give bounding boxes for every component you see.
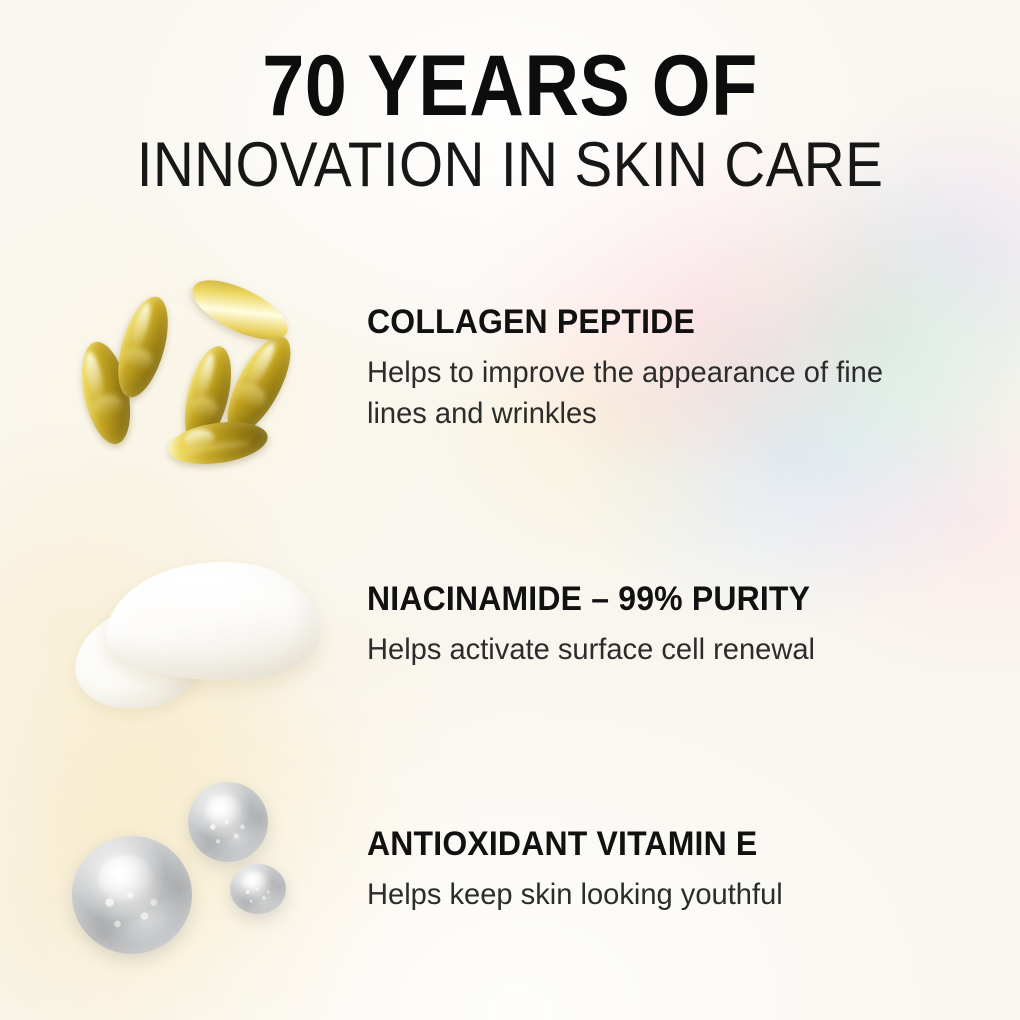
gel-droplet-large <box>72 836 192 954</box>
niacinamide-cream-image <box>70 552 335 722</box>
headline-line-2: INNOVATION IN SKIN CARE <box>51 134 969 197</box>
feature-niacinamide-title: NIACINAMIDE – 99% PURITY <box>367 580 931 619</box>
gel-droplet-small <box>230 864 286 914</box>
softgel-capsule <box>108 291 177 403</box>
feature-vitamin-e-description: Helps keep skin looking youthful <box>367 874 949 915</box>
collagen-capsules-image <box>70 275 320 470</box>
feature-vitamin-e: ANTIOXIDANT VITAMIN E Helps keep skin lo… <box>367 825 967 915</box>
skincare-infographic-poster: 70 YEARS OF INNOVATION IN SKIN CARE COLL… <box>0 0 1020 1020</box>
vitamin-e-droplets-image <box>60 770 320 960</box>
cream-swatch-gloss <box>148 574 268 618</box>
gel-droplet-medium <box>188 782 268 862</box>
headline-line-1: 70 YEARS OF <box>61 44 959 128</box>
feature-collagen-description: Helps to improve the appearance of fine … <box>367 352 949 434</box>
softgel-capsule <box>166 416 271 470</box>
feature-niacinamide: NIACINAMIDE – 99% PURITY Helps activate … <box>367 580 967 670</box>
feature-collagen: COLLAGEN PEPTIDE Helps to improve the ap… <box>367 303 967 434</box>
feature-niacinamide-description: Helps activate surface cell renewal <box>367 629 949 670</box>
feature-vitamin-e-title: ANTIOXIDANT VITAMIN E <box>367 825 931 864</box>
feature-collagen-title: COLLAGEN PEPTIDE <box>367 303 931 342</box>
page-title: 70 YEARS OF INNOVATION IN SKIN CARE <box>0 44 1020 197</box>
